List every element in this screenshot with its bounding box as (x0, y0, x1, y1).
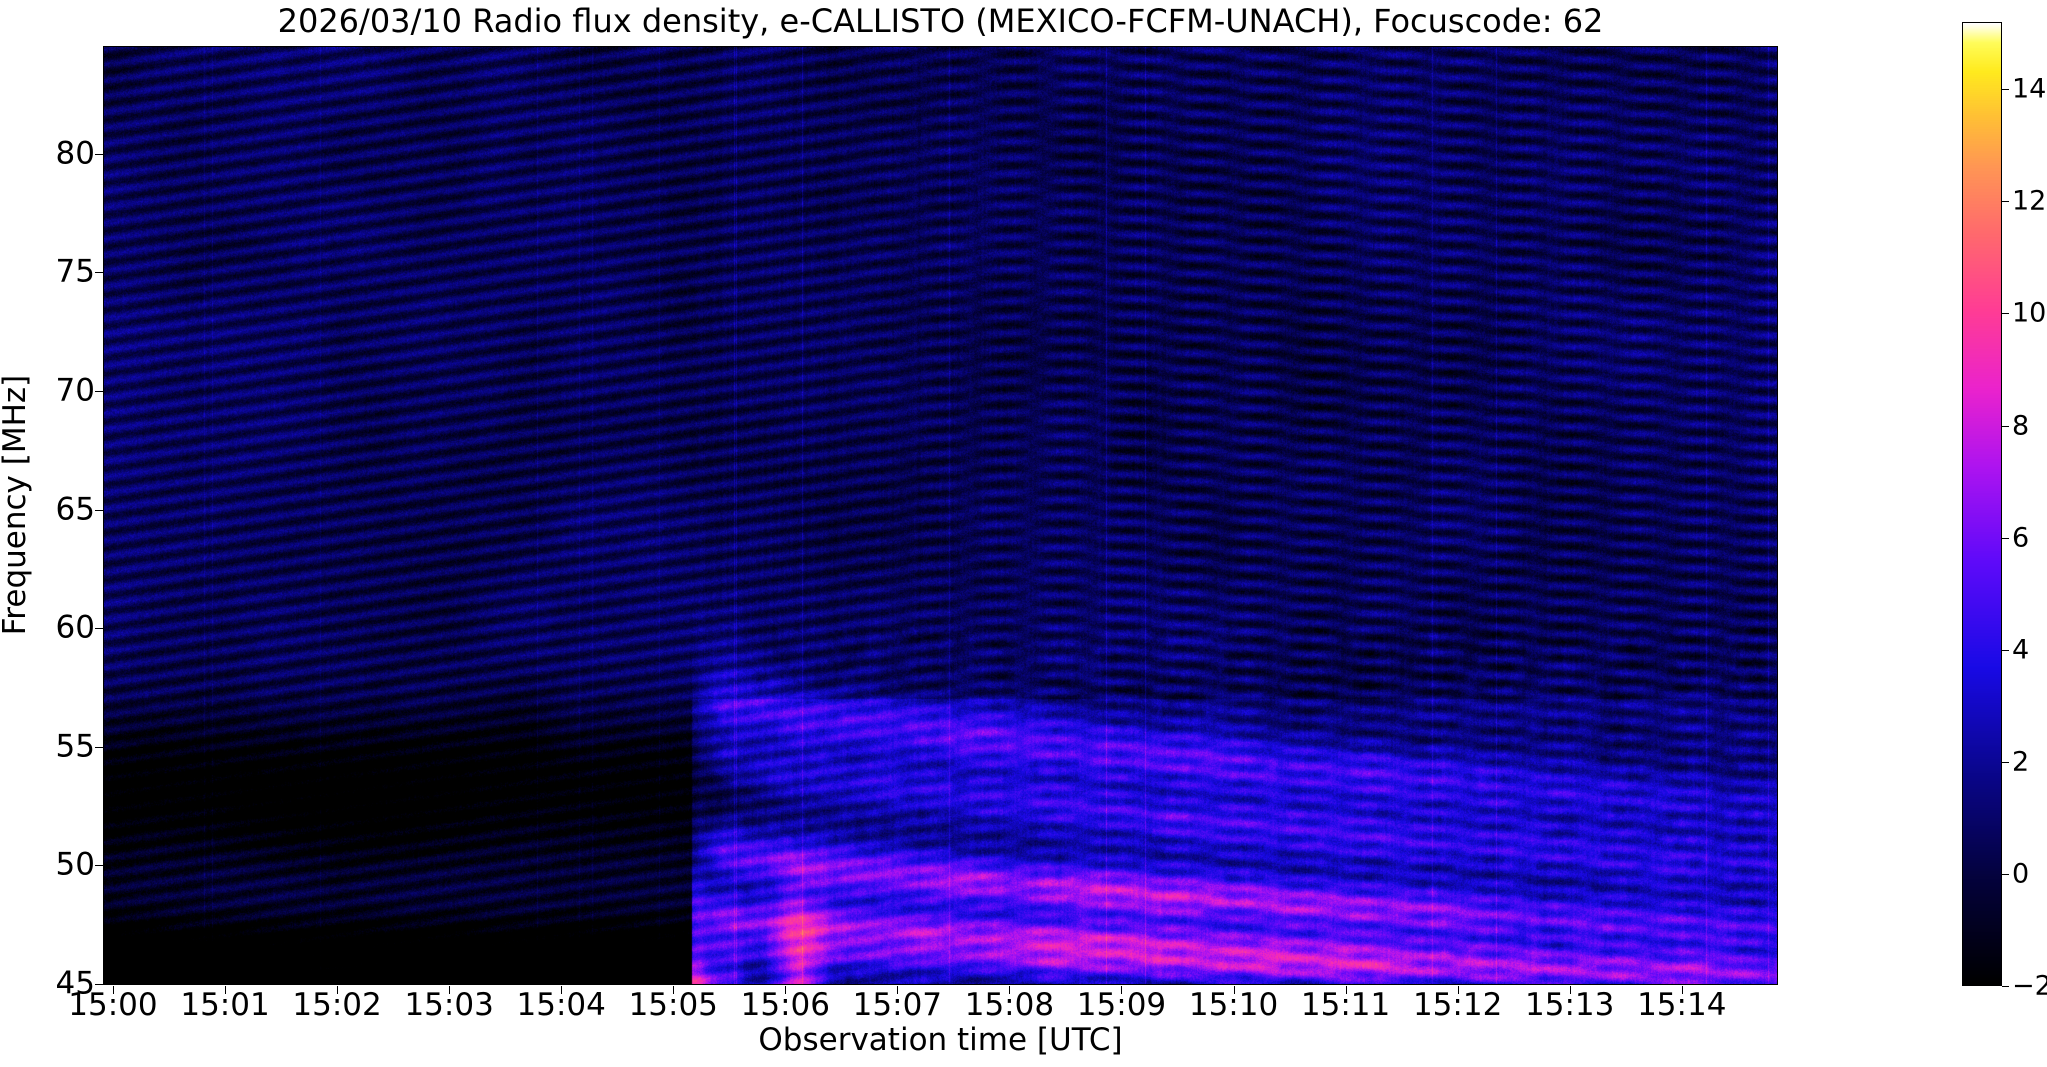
figure-root: 2026/03/10 Radio flux density, e-CALLIST… (0, 0, 2047, 1067)
x-axis-tick-label: 15:01 (180, 990, 269, 1021)
spectrogram-plot-area (103, 46, 1778, 985)
y-axis-tick-label: 50 (0, 850, 95, 881)
y-axis-tick-mark (95, 747, 103, 748)
x-axis-tick-mark (449, 986, 450, 994)
y-axis-tick-label: 65 (0, 494, 95, 525)
x-axis-tick-label: 15:11 (1301, 990, 1390, 1021)
x-axis-tick-label: 15:05 (629, 990, 718, 1021)
y-axis-tick-mark (95, 391, 103, 392)
colorbar-tick-label: 12 (2012, 188, 2046, 215)
colorbar-tick-mark (2002, 874, 2009, 875)
colorbar-gradient (1963, 23, 2001, 985)
colorbar-tick-mark (2002, 650, 2009, 651)
y-axis-tick-label: 55 (0, 731, 95, 762)
colorbar-tick-label: 0 (2012, 860, 2029, 887)
spectrogram-image (104, 47, 1777, 984)
y-axis-tick-mark (95, 272, 103, 273)
colorbar-tick-mark (2002, 538, 2009, 539)
x-axis-tick-label: 15:00 (68, 990, 157, 1021)
x-axis-tick-label: 15:14 (1637, 990, 1726, 1021)
y-axis-tick-mark (95, 865, 103, 866)
x-axis-tick-label: 15:06 (741, 990, 830, 1021)
x-axis-tick-label: 15:12 (1413, 990, 1502, 1021)
x-axis-tick-mark (1121, 986, 1122, 994)
page-title: 2026/03/10 Radio flux density, e-CALLIST… (103, 2, 1778, 40)
x-axis-tick-mark (1009, 986, 1010, 994)
colorbar-tick-label: −2 (2012, 973, 2047, 1000)
colorbar-tick-label: 10 (2012, 300, 2046, 327)
x-axis-tick-mark (785, 986, 786, 994)
x-axis-label: Observation time [UTC] (103, 1022, 1778, 1058)
colorbar-tick-mark (2002, 762, 2009, 763)
x-axis-tick-mark (561, 986, 562, 994)
x-axis-tick-label: 15:03 (404, 990, 493, 1021)
y-axis-tick-label: 60 (0, 613, 95, 644)
colorbar-tick-mark (2002, 986, 2009, 987)
x-axis-tick-label: 15:10 (1189, 990, 1278, 1021)
x-axis-tick-label: 15:04 (517, 990, 606, 1021)
x-axis-tick-mark (337, 986, 338, 994)
x-axis-tick-label: 15:13 (1525, 990, 1614, 1021)
y-axis-tick-label: 75 (0, 257, 95, 288)
x-axis-tick-mark (673, 986, 674, 994)
colorbar-tick-label: 8 (2012, 412, 2029, 439)
y-axis-tick-label: 70 (0, 375, 95, 406)
x-axis-tick-mark (1682, 986, 1683, 994)
colorbar (1962, 22, 2002, 986)
colorbar-tick-mark (2002, 89, 2009, 90)
x-axis-tick-mark (225, 986, 226, 994)
x-axis-tick-mark (897, 986, 898, 994)
x-axis-tick-mark (1346, 986, 1347, 994)
y-axis-tick-mark (95, 510, 103, 511)
colorbar-tick-label: 2 (2012, 748, 2029, 775)
x-axis-tick-mark (1234, 986, 1235, 994)
x-axis-tick-mark (1570, 986, 1571, 994)
y-axis-tick-mark (95, 984, 103, 985)
x-axis-tick-mark (1458, 986, 1459, 994)
colorbar-tick-mark (2002, 426, 2009, 427)
x-axis-tick-mark (113, 986, 114, 994)
y-axis-tick-mark (95, 154, 103, 155)
x-axis-tick-label: 15:08 (965, 990, 1054, 1021)
x-axis-tick-label: 15:02 (292, 990, 381, 1021)
colorbar-tick-label: 14 (2012, 76, 2046, 103)
y-axis-tick-label: 80 (0, 138, 95, 169)
x-axis-tick-label: 15:09 (1077, 990, 1166, 1021)
colorbar-tick-label: 4 (2012, 636, 2029, 663)
x-axis-tick-label: 15:07 (853, 990, 942, 1021)
colorbar-tick-label: 6 (2012, 524, 2029, 551)
colorbar-tick-mark (2002, 201, 2009, 202)
y-axis-tick-mark (95, 628, 103, 629)
colorbar-tick-mark (2002, 313, 2009, 314)
